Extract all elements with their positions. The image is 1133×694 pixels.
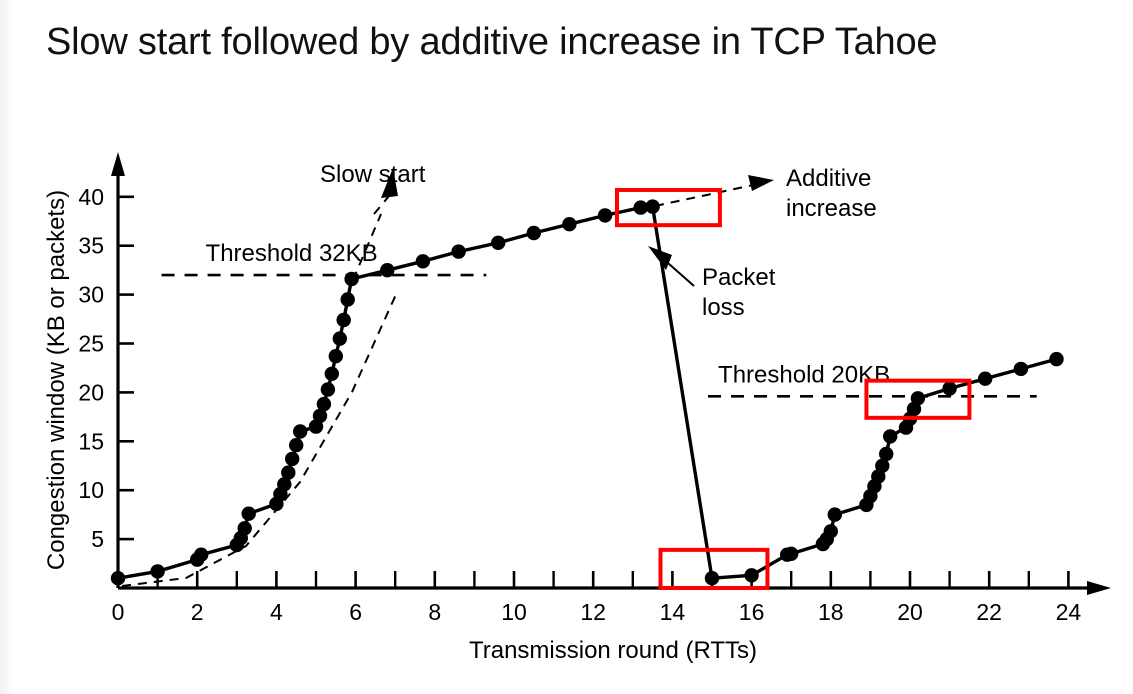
y-tick-label-10: 10 [78, 477, 104, 503]
data-point [344, 272, 358, 286]
data-point [285, 452, 299, 466]
y-tick-label-40: 40 [78, 184, 104, 210]
data-point [1014, 362, 1028, 376]
data-point [784, 547, 798, 561]
y-tick-label-20: 20 [78, 379, 104, 405]
data-point [281, 465, 295, 479]
threshold-label-1: Threshold 20KB [718, 361, 890, 388]
data-point [828, 507, 842, 521]
data-point [562, 217, 576, 231]
additive-increase-stem [655, 184, 758, 206]
data-point [645, 199, 659, 213]
data-point [527, 226, 541, 240]
data-point [242, 507, 256, 521]
data-point [380, 263, 394, 277]
x-tick-label-20: 20 [897, 599, 923, 625]
x-tick-label-24: 24 [1056, 599, 1082, 625]
highlight-boxes [617, 190, 969, 588]
x-tick-label-4: 4 [270, 599, 283, 625]
data-point [325, 367, 339, 381]
data-point [293, 424, 307, 438]
x-axis-title: Transmission round (RTTs) [469, 637, 757, 664]
data-point [337, 313, 351, 327]
slow-start-pointer-stem [374, 196, 389, 214]
data-point [238, 521, 252, 535]
data-point [491, 236, 505, 250]
x-tick-label-6: 6 [349, 599, 362, 625]
x-tick-label-2: 2 [191, 599, 204, 625]
x-tick-label-18: 18 [818, 599, 844, 625]
x-tick-label-10: 10 [501, 599, 527, 625]
x-tick-label-8: 8 [428, 599, 441, 625]
y-tick-label-25: 25 [78, 331, 104, 357]
y-axis-title: Congestion window (KB or packets) [43, 190, 70, 570]
x-tick-label-22: 22 [976, 599, 1002, 625]
data-point [111, 571, 125, 585]
x-tick-label-0: 0 [112, 599, 125, 625]
y-tick-label-30: 30 [78, 282, 104, 308]
data-point [744, 568, 758, 582]
annotation-packet-loss-line2: loss [702, 294, 745, 321]
slow-start-trend-1 [122, 290, 398, 586]
data-point [824, 524, 838, 538]
data-point [942, 381, 956, 395]
y-tick-label-5: 5 [91, 526, 104, 552]
x-axis-ticks: 024681012141618202224 [112, 571, 1082, 625]
x-axis-arrowhead [1087, 581, 1111, 595]
annotation-additive-increase-line1: Additive [786, 165, 871, 192]
data-point [333, 331, 347, 345]
threshold-lines: Threshold 32KBThreshold 20KB [162, 240, 1037, 396]
x-tick-label-12: 12 [580, 599, 606, 625]
data-point [1049, 352, 1063, 366]
y-tick-label-15: 15 [78, 428, 104, 454]
data-point [883, 429, 897, 443]
data-point [317, 397, 331, 411]
data-point [879, 447, 893, 461]
data-point [451, 244, 465, 258]
x-tick-label-16: 16 [739, 599, 765, 625]
annotation-additive-increase-line2: increase [786, 195, 877, 222]
data-point [911, 391, 925, 405]
data-point [978, 372, 992, 386]
x-tick-label-14: 14 [660, 599, 686, 625]
annotation-packet-loss-line1: Packet [702, 264, 776, 291]
chart-svg: 510152025303540 024681012141618202224 Co… [0, 0, 1133, 694]
data-point [329, 349, 343, 363]
tcp-tahoe-chart: 510152025303540 024681012141618202224 Co… [0, 0, 1133, 694]
slow-start-trend-guides [122, 168, 398, 586]
y-axis-ticks: 510152025303540 [78, 184, 134, 552]
y-tick-label-35: 35 [78, 233, 104, 259]
data-point [416, 254, 430, 268]
packet-loss-pointer [648, 246, 694, 286]
data-point [705, 571, 719, 585]
data-point [341, 292, 355, 306]
y-axis-arrowhead [111, 152, 125, 176]
data-point [150, 564, 164, 578]
additive-increase-arrowhead [748, 175, 774, 191]
data-point [321, 382, 335, 396]
data-point [194, 548, 208, 562]
data-point [289, 438, 303, 452]
annotation-slow-start: Slow start [320, 161, 426, 188]
data-point [598, 208, 612, 222]
threshold-label-0: Threshold 32KB [206, 240, 378, 267]
